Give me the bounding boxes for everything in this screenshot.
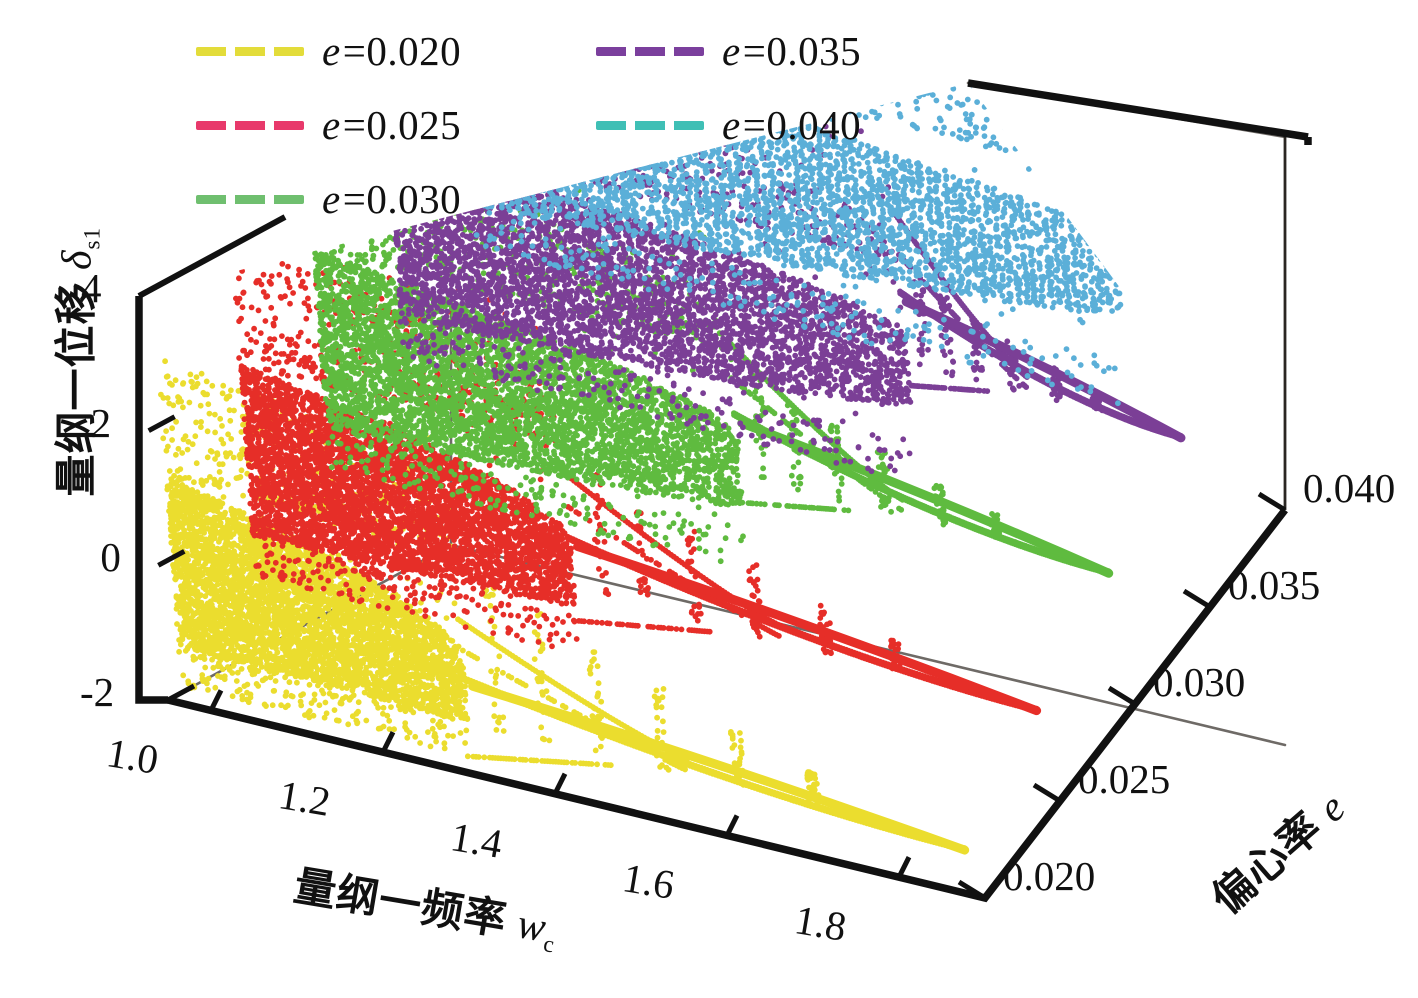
- z-tick-label-2: 0.030: [1153, 658, 1245, 706]
- y-tick-label-2: 0: [100, 533, 121, 581]
- y-axis-label-cn: 量纲一位移: [51, 281, 100, 496]
- y-tick-label-3: -2: [80, 668, 114, 716]
- tick-mark: [555, 774, 565, 794]
- periodic-branch-line: [473, 686, 965, 850]
- legend-column-1: e=0.020 e=0.025 e=0.030: [196, 14, 461, 236]
- legend-dash-icon: [596, 47, 704, 56]
- x-tick-label-3: 1.6: [619, 854, 677, 910]
- x-tick-label-4: 1.8: [791, 895, 849, 951]
- z-tick-label-0: 0.020: [1003, 852, 1095, 900]
- legend: e=0.020 e=0.025 e=0.030 e=0.035 e=0.040: [196, 14, 956, 214]
- legend-dash-icon: [196, 47, 304, 56]
- legend-dash-icon: [196, 195, 304, 204]
- legend-symbol: e: [722, 102, 743, 148]
- tick-mark: [1034, 785, 1060, 801]
- z-tick-label-3: 0.035: [1228, 561, 1320, 609]
- tick-mark: [1259, 494, 1285, 510]
- x-tick-label-0: 1.0: [103, 729, 161, 785]
- legend-column-2: e=0.035 e=0.040: [596, 14, 861, 162]
- legend-value: =0.025: [343, 102, 461, 148]
- legend-value: =0.040: [743, 102, 861, 148]
- tick-mark: [211, 690, 221, 710]
- legend-symbol: e: [322, 102, 343, 148]
- legend-item-e-0040[interactable]: e=0.040: [596, 88, 861, 162]
- legend-value: =0.030: [343, 176, 461, 222]
- legend-dash-icon: [596, 121, 704, 130]
- legend-item-e-0035[interactable]: e=0.035: [596, 14, 861, 88]
- legend-item-e-0030[interactable]: e=0.030: [196, 162, 461, 236]
- legend-label: e=0.025: [322, 105, 461, 146]
- legend-symbol: e: [322, 176, 343, 222]
- tick-mark: [383, 732, 393, 752]
- x-tick-label-2: 1.4: [447, 812, 505, 868]
- legend-symbol: e: [322, 28, 343, 74]
- tick-mark: [168, 686, 194, 700]
- tick-mark: [899, 857, 909, 877]
- legend-symbol: e: [722, 28, 743, 74]
- y-tick-label-0: 4: [81, 264, 102, 312]
- legend-label: e=0.035: [722, 31, 861, 72]
- legend-item-e-0020[interactable]: e=0.020: [196, 14, 461, 88]
- legend-dash-icon: [196, 121, 304, 130]
- legend-value: =0.035: [743, 28, 861, 74]
- z-tick-label-1: 0.025: [1078, 755, 1170, 803]
- tick-mark: [1184, 591, 1210, 607]
- legend-item-e-0025[interactable]: e=0.025: [196, 88, 461, 162]
- y-axis-label: 量纲一位移 δs1: [42, 212, 105, 512]
- tick-mark: [1109, 688, 1135, 704]
- tick-mark: [727, 815, 737, 835]
- legend-label: e=0.030: [322, 179, 461, 220]
- y-axis-label-subscript: s1: [79, 227, 105, 250]
- periodic-branch-line: [1112, 187, 1253, 300]
- x-tick-label-1: 1.2: [275, 770, 333, 826]
- legend-label: e=0.040: [722, 105, 861, 146]
- legend-value: =0.020: [343, 28, 461, 74]
- legend-label: e=0.020: [322, 31, 461, 72]
- z-tick-label-4: 0.040: [1303, 464, 1395, 512]
- tick-mark: [139, 282, 165, 296]
- chart-canvas: e=0.020 e=0.025 e=0.030 e=0.035 e=0.040: [0, 0, 1418, 998]
- periodic-branch-line: [742, 423, 1109, 573]
- y-tick-label-1: 2: [91, 399, 112, 447]
